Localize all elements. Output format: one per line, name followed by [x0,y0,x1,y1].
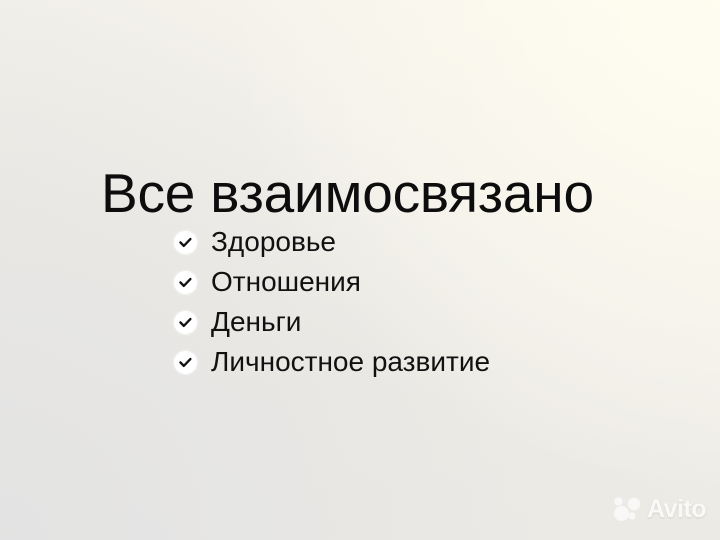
bullet-list: Здоровье Отношения Деньги [174,222,490,382]
list-item: Отношения [174,262,490,302]
list-item-label: Здоровье [211,227,336,257]
list-item-label: Деньги [211,307,301,337]
page-title: Все взаимосвязано [101,163,594,223]
list-item-label: Личностное развитие [211,347,490,377]
avito-circles-logo-icon [612,496,644,522]
check-circle-icon [174,351,197,374]
list-item: Деньги [174,302,490,342]
slide-canvas: Все взаимосвязано Здоровье Отношения [0,0,720,540]
list-item-label: Отношения [211,267,361,297]
check-circle-icon [174,231,197,254]
list-item: Личностное развитие [174,342,490,382]
check-circle-icon [174,271,197,294]
avito-watermark-label: Avito [647,497,706,522]
list-item: Здоровье [174,222,490,262]
check-circle-icon [174,311,197,334]
avito-watermark: Avito [612,496,706,522]
